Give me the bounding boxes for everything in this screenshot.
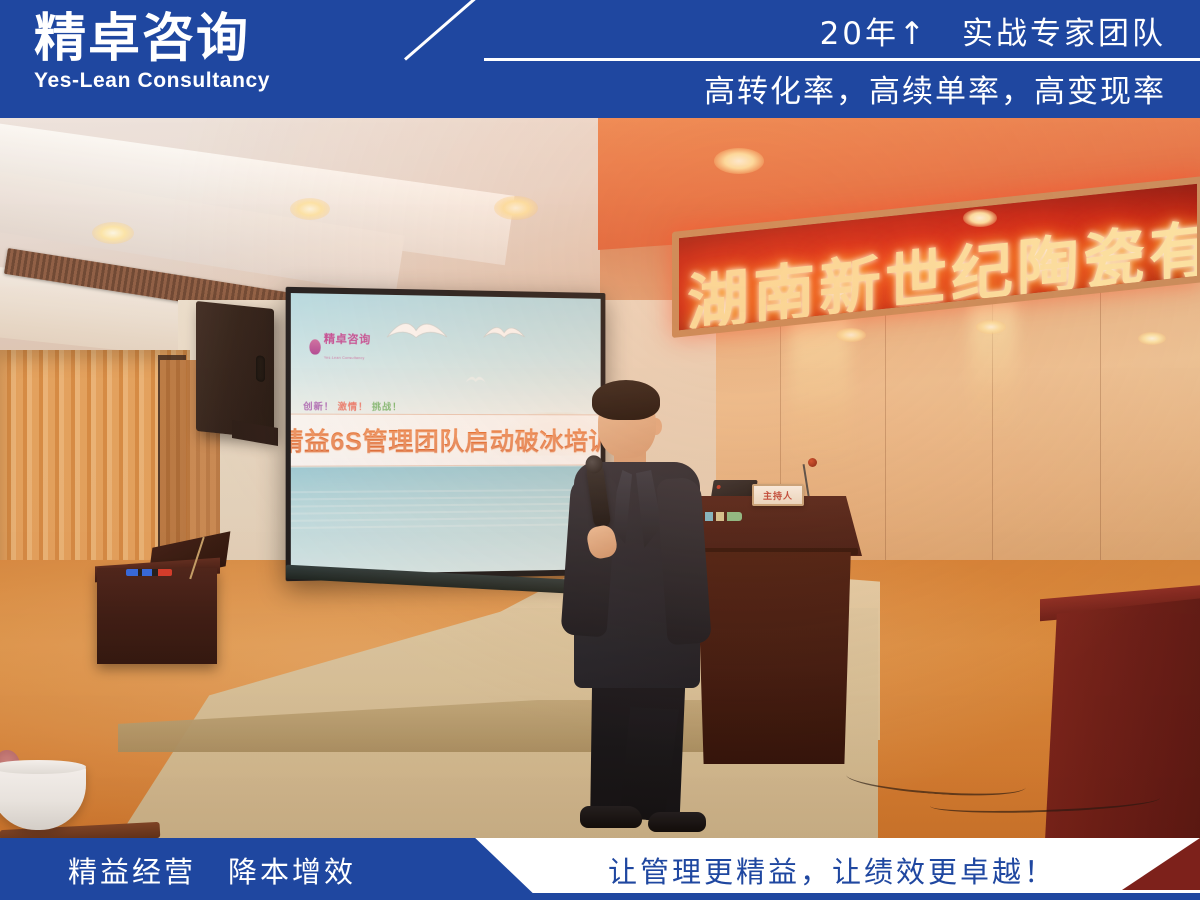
slide-kicker-3: 挑战！: [372, 402, 402, 412]
podium-nameplate-text: 主持人: [763, 489, 793, 502]
brand-logo-cn: 精卓咨询: [34, 12, 270, 67]
slide-logo-mark: [309, 339, 320, 354]
brand-logo: 精卓咨询 Yes-Lean Consultancy: [34, 12, 270, 93]
presenter-shoe: [580, 806, 642, 828]
slide-logo-en: Yes-Lean Consultancy: [324, 356, 365, 360]
burgundy-cabinet: [1044, 598, 1200, 860]
footer-left-text: 精益经营 降本增效: [68, 849, 356, 891]
wall-downlight: [1138, 332, 1166, 345]
presenter-shoe: [648, 812, 706, 832]
footer-corner-accent: [1122, 838, 1200, 890]
promo-poster: 湖南新世纪陶瓷有限: [0, 0, 1200, 900]
slide-logo-cn: 精卓咨询: [324, 333, 371, 346]
header-bar: 精卓咨询 Yes-Lean Consultancy 20年↑ 实战专家团队 高转…: [0, 0, 1200, 118]
header-horizontal-rule: [484, 58, 1200, 61]
presenter-hair: [592, 380, 660, 420]
seagull-icon: [465, 374, 487, 385]
ceiling-light: [290, 198, 330, 220]
wall-speaker: [196, 301, 274, 439]
av-console: [97, 568, 217, 664]
brand-logo-en: Yes-Lean Consultancy: [34, 69, 270, 93]
ceiling-light: [494, 196, 538, 220]
ceiling-light: [714, 148, 764, 174]
slide-kicker: 创新！ 激情！ 挑战！: [303, 399, 402, 413]
ceiling-light: [963, 209, 997, 227]
footer-right-text: 让管理更精益，让绩效更卓越！: [608, 849, 1056, 891]
podium-nameplate: 主持人: [752, 484, 804, 506]
wall-downlight: [976, 320, 1006, 334]
presenter: [552, 378, 742, 838]
seagull-icon: [385, 317, 449, 348]
seagull-icon: [483, 323, 526, 345]
slide-kicker-1: 创新！: [303, 401, 334, 411]
ceiling-light: [92, 222, 134, 244]
av-console-indicators: [126, 569, 172, 576]
header-tagline-bottom: 高转化率，高续单率，高变现率: [704, 66, 1166, 111]
header-tagline-top: 20年↑ 实战专家团队: [820, 8, 1166, 53]
header-diagonal-rule: [404, 0, 497, 61]
slide-kicker-2: 激情！: [338, 402, 369, 412]
event-photo: 湖南新世纪陶瓷有限: [0, 0, 1200, 900]
slide-logo: 精卓咨询 Yes-Lean Consultancy: [309, 330, 370, 363]
wall-downlight: [836, 328, 866, 342]
footer-blue-strip: [0, 893, 1200, 900]
gooseneck-mic-head: [808, 458, 817, 467]
footer-bar: 精益经营 降本增效 让管理更精益，让绩效更卓越！: [0, 838, 1200, 900]
